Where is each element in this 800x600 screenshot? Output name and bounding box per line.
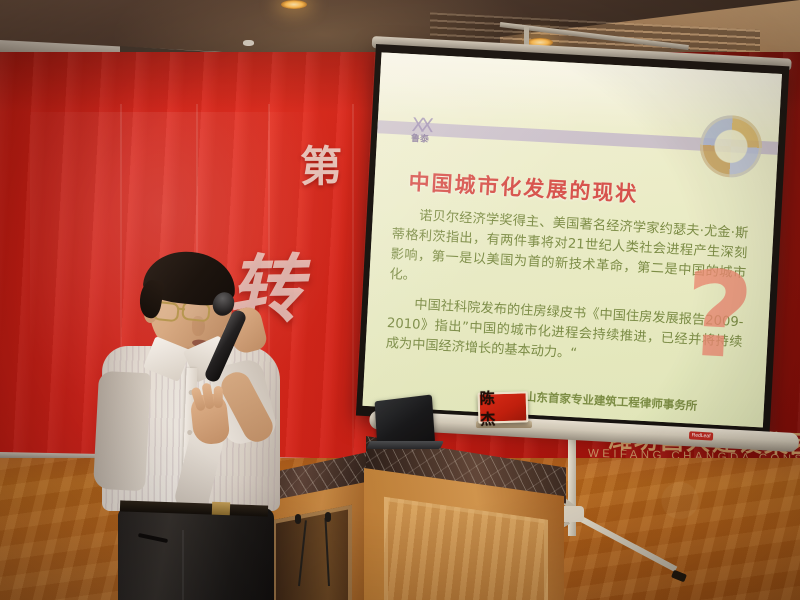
presentation-slide: XX 鲁泰 中国城市化发展的现状 诺贝尔经济学奖得主、美国著名经济学家约瑟夫·尤… — [362, 52, 782, 427]
roller-brand-badge: RedLeaf — [689, 431, 713, 440]
speaker-figure — [96, 250, 311, 600]
trouser-crease — [182, 530, 184, 600]
speaker-nameplate: 陈 杰 — [478, 391, 529, 423]
podium-microphone-head-icon — [325, 512, 331, 522]
laptop-screen[interactable] — [375, 394, 436, 444]
ceiling-light-icon — [281, 0, 307, 9]
slide-title: 中国城市化发展的现状 — [408, 166, 739, 214]
photo-scene: 第 十 转 型 ⛰ 潍坊昌大建设集团 WEIFANG CHANGDA CONST… — [0, 0, 800, 600]
belt-buckle — [212, 502, 230, 516]
projection-screen: XX 鲁泰 中国城市化发展的现状 诺贝尔经济学奖得主、美国著名经济学家约瑟夫·尤… — [356, 44, 790, 438]
speaker-left-sleeve — [93, 371, 151, 492]
slide-logo-mark: XX — [403, 116, 438, 137]
question-mark-graphic: ? — [682, 265, 756, 365]
slide-logo-icon: XX 鲁泰 — [402, 116, 438, 152]
screen-canvas: XX 鲁泰 中国城市化发展的现状 诺贝尔经济学奖得主、美国著名经济学家约瑟夫·尤… — [362, 52, 782, 427]
podium-panel-right — [384, 497, 548, 600]
finger — [214, 386, 223, 408]
ceiling-sensor-icon — [243, 40, 254, 46]
trouser-pocket — [138, 533, 168, 543]
speaker-name: 陈 杰 — [479, 386, 526, 429]
laptop-base[interactable] — [366, 441, 444, 449]
speaker-trousers — [118, 508, 274, 600]
slide-footer-text: 山东首家专业建筑工程律师事务所 — [525, 390, 698, 413]
slide-logo-sub: 鲁泰 — [403, 135, 437, 146]
slide-footer: ▲山东首家专业建筑工程律师事务所 — [513, 388, 698, 414]
